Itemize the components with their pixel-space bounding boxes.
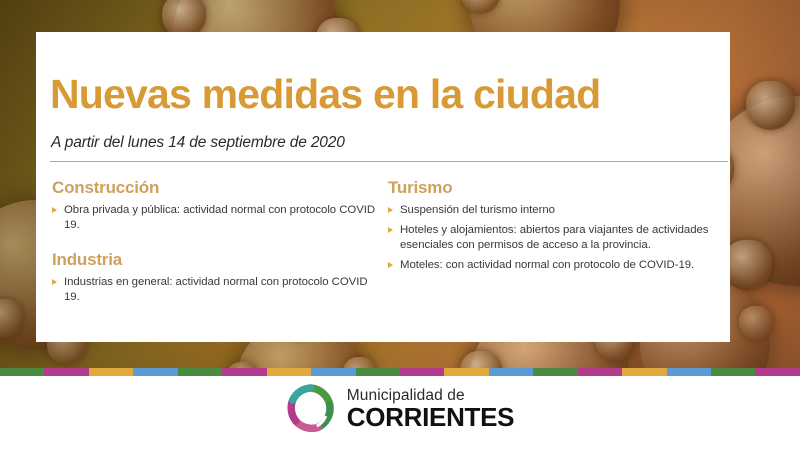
color-strip-segment xyxy=(44,368,88,376)
section-turismo: Turismo Suspensión del turismo interno H… xyxy=(388,178,730,273)
triangle-bullet-icon xyxy=(388,262,393,268)
section-heading: Turismo xyxy=(388,178,730,198)
poster-root: Nuevas medidas en la ciudad A partir del… xyxy=(0,0,800,451)
section-industria: Industria Industrias en general: activid… xyxy=(52,250,384,305)
color-strip-segment xyxy=(222,368,266,376)
color-strip-segment xyxy=(400,368,444,376)
left-column: Construcción Obra privada y pública: act… xyxy=(36,178,384,310)
list-item: Moteles: con actividad normal con protoc… xyxy=(388,258,730,273)
list-item: Industrias en general: actividad normal … xyxy=(52,275,384,305)
color-strip-segment xyxy=(444,368,488,376)
page-subtitle: A partir del lunes 14 de septiembre de 2… xyxy=(51,134,345,152)
section-construccion: Construcción Obra privada y pública: act… xyxy=(52,178,384,233)
color-strip-segment xyxy=(178,368,222,376)
color-strip-segment xyxy=(711,368,755,376)
page-title: Nuevas medidas en la ciudad xyxy=(50,74,600,115)
color-strip-segment xyxy=(0,368,44,376)
triangle-bullet-icon xyxy=(388,227,393,233)
bullet-list: Suspensión del turismo interno Hoteles y… xyxy=(388,203,730,273)
content-card: Nuevas medidas en la ciudad A partir del… xyxy=(36,32,730,342)
list-item: Obra privada y pública: actividad normal… xyxy=(52,203,384,233)
list-item-text: Obra privada y pública: actividad normal… xyxy=(64,204,375,231)
logo-line-corrientes: CORRIENTES xyxy=(347,404,514,431)
bullet-list: Industrias en general: actividad normal … xyxy=(52,275,384,305)
header-divider xyxy=(50,161,728,162)
right-column: Turismo Suspensión del turismo interno H… xyxy=(384,178,730,310)
list-item-text: Suspensión del turismo interno xyxy=(400,204,555,216)
list-item-text: Moteles: con actividad normal con protoc… xyxy=(400,259,694,271)
footer: Municipalidad de CORRIENTES xyxy=(0,376,800,451)
list-item-text: Hoteles y alojamientos: abiertos para vi… xyxy=(400,224,708,251)
color-strip-segment xyxy=(89,368,133,376)
content-columns: Construcción Obra privada y pública: act… xyxy=(36,178,730,310)
decorative-color-strip xyxy=(0,368,800,376)
triangle-bullet-icon xyxy=(52,207,57,213)
logo-text-block: Municipalidad de CORRIENTES xyxy=(347,388,514,431)
list-item: Hoteles y alojamientos: abiertos para vi… xyxy=(388,223,730,253)
corrientes-ring-logo-icon xyxy=(286,384,336,434)
color-strip-segment xyxy=(667,368,711,376)
color-strip-segment xyxy=(489,368,533,376)
list-item: Suspensión del turismo interno xyxy=(388,203,730,218)
color-strip-segment xyxy=(755,368,799,376)
color-strip-segment xyxy=(622,368,666,376)
section-heading: Industria xyxy=(52,250,384,270)
municipality-logo: Municipalidad de CORRIENTES xyxy=(286,384,514,434)
color-strip-segment xyxy=(533,368,577,376)
section-heading: Construcción xyxy=(52,178,384,198)
color-strip-segment xyxy=(267,368,311,376)
list-item-text: Industrias en general: actividad normal … xyxy=(64,276,368,303)
color-strip-segment xyxy=(356,368,400,376)
triangle-bullet-icon xyxy=(52,279,57,285)
color-strip-segment xyxy=(133,368,177,376)
triangle-bullet-icon xyxy=(388,207,393,213)
bullet-list: Obra privada y pública: actividad normal… xyxy=(52,203,384,233)
color-strip-segment xyxy=(311,368,355,376)
color-strip-segment xyxy=(578,368,622,376)
